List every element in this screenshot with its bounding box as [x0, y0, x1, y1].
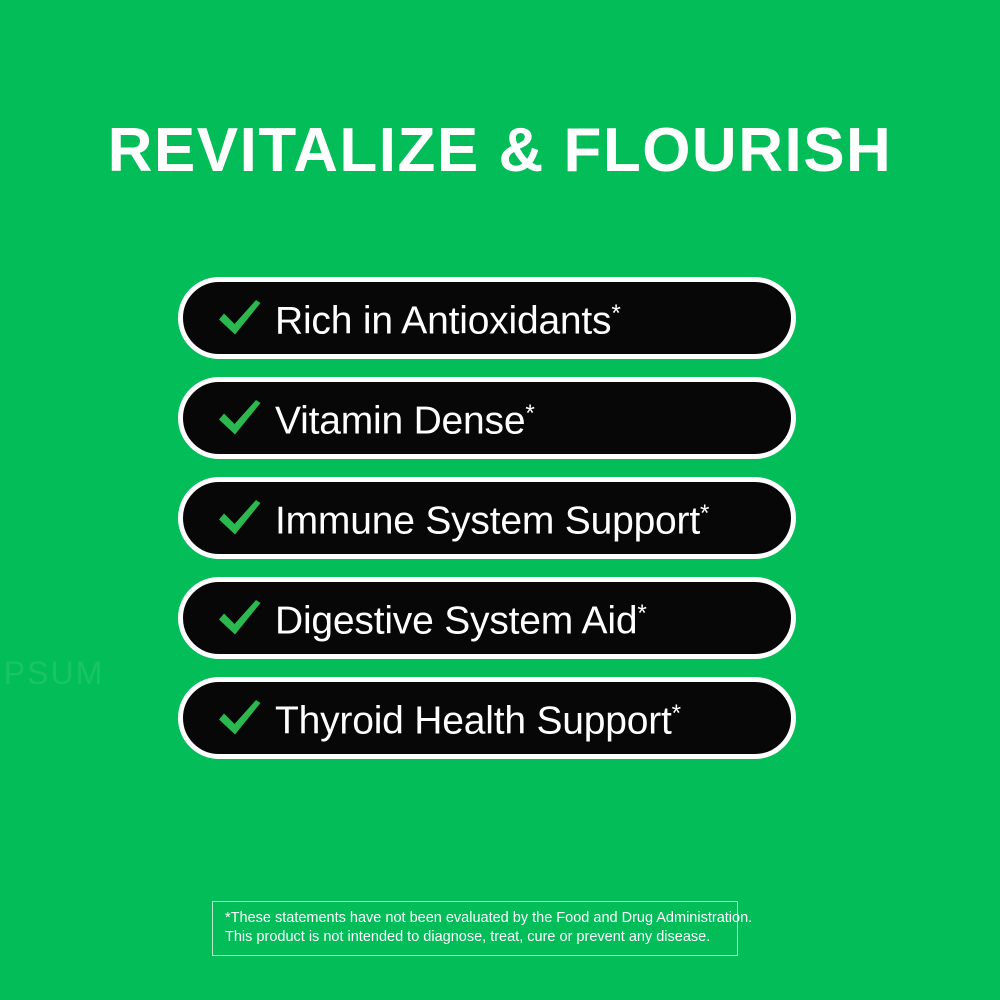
benefit-pill-4: Digestive System Aid*: [178, 577, 796, 659]
benefit-pill-label: Immune System Support*: [275, 492, 709, 544]
check-icon: [213, 692, 265, 744]
check-icon: [213, 392, 265, 444]
benefit-pill-3: Immune System Support*: [178, 477, 796, 559]
footnote-marker: *: [672, 700, 681, 727]
benefit-pill-5: Thyroid Health Support*: [178, 677, 796, 759]
footnote-marker: *: [525, 400, 534, 427]
benefit-pill-2: Vitamin Dense*: [178, 377, 796, 459]
benefits-list: Rich in Antioxidants* Vitamin Dense* Imm…: [178, 277, 796, 759]
benefit-pill-label: Thyroid Health Support*: [275, 692, 681, 744]
disclaimer-line-2: This product is not intended to diagnose…: [225, 928, 726, 947]
footnote-marker: *: [637, 600, 646, 627]
watermark-text: EM IPSUM: [0, 655, 104, 692]
check-icon: [213, 292, 265, 344]
page-title: REVITALIZE & FLOURISH: [0, 118, 1000, 184]
check-icon: [213, 592, 265, 644]
fda-disclaimer-box: *These statements have not been evaluate…: [212, 901, 738, 956]
benefit-pill-1: Rich in Antioxidants*: [178, 277, 796, 359]
footnote-marker: *: [700, 500, 709, 527]
benefit-pill-label: Digestive System Aid*: [275, 592, 647, 644]
benefit-pill-label: Rich in Antioxidants*: [275, 292, 621, 344]
footnote-marker: *: [611, 300, 620, 327]
check-icon: [213, 492, 265, 544]
disclaimer-line-1: *These statements have not been evaluate…: [225, 909, 726, 928]
poster-canvas: EM IPSUM REVITALIZE & FLOURISH Rich in A…: [0, 0, 1000, 1000]
benefit-pill-label: Vitamin Dense*: [275, 392, 535, 444]
